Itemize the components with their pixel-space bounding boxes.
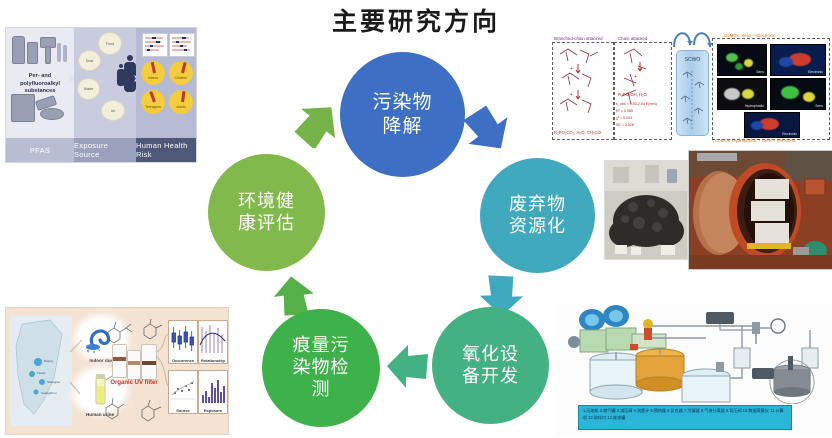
figure-autoclave (688, 150, 832, 270)
figure-carbon-material (604, 160, 688, 260)
cycle-node-oxidation-equipment[interactable]: 氧化设 备开发 (432, 307, 549, 424)
pan-round-icon (40, 108, 64, 120)
pfas-band-label-2: Exposure Source (74, 138, 136, 162)
pie-children-label: Children (175, 76, 188, 80)
svg-text:+: + (570, 66, 573, 72)
bubble-water-label: Water (84, 87, 93, 91)
micrograph-sens-1: Sens (717, 44, 767, 76)
figure-pfas: Per- and polyfluoroalkyl substances ➤ Du… (5, 27, 197, 163)
figure-scwo: Branched-chain attacked Chain attacked +… (548, 26, 832, 144)
pfas-band-label-1: PFAS (6, 138, 74, 162)
scwo-micro-title-bottom: CoMOx: Hydrophobic + Sens + Electronic (715, 138, 796, 143)
pie-adults-label: Adults (176, 105, 185, 109)
device-caption: 1.压缩机 2.储气罐 3.减压阀 4.流量计 5.预热器 6.反应器 7.冷凝… (578, 405, 792, 430)
vial-icon (57, 43, 61, 62)
micrograph-electronic-2: Electronic (744, 112, 800, 138)
vial-icon (63, 45, 67, 62)
micrograph-electronic-1: Electronic (770, 44, 826, 76)
carbon-material-photo (605, 161, 687, 259)
autoclave-photo (689, 151, 832, 269)
pfas-panels: Per- and polyfluoroalkyl substances ➤ Du… (6, 28, 196, 138)
figure-device-schematic: 1.压缩机 2.储气罐 3.减压阀 4.流量计 5.预热器 6.反应器 7.冷凝… (556, 304, 832, 436)
pfas-band-row: PFAS Exposure Source Human Health Risk (6, 138, 196, 162)
micrograph-sens-2: Sens (770, 78, 826, 110)
child-head-icon (119, 64, 123, 68)
scwo-fit-chi2: χ² = 0.033 (616, 116, 632, 120)
bottle-icon (12, 36, 25, 64)
pie-teenagers-label: Teenagers (145, 105, 161, 109)
pfas-substance-label: Per- and polyfluoroalkyl substances (9, 73, 71, 96)
pie-adults: Adults (169, 90, 193, 114)
micrograph-label: Electronic (782, 132, 797, 136)
fabric-icon (11, 94, 35, 122)
device-flow-diagram (556, 304, 832, 404)
figure-uv-filter: BeijingTianjin ShanghaiGuangzhou Indoor … (5, 307, 229, 435)
bubble-food: Food (98, 32, 122, 55)
forest-plot-left (142, 33, 168, 57)
svg-text:+: + (634, 74, 637, 80)
micrograph-label: Sens (756, 70, 764, 74)
scwo-tube-molecules (677, 69, 708, 131)
scwo-panel-chain-title: Chain attacked (618, 36, 647, 41)
bubble-air-label: Air (111, 109, 115, 113)
cycle-node-label: 痕量污 染物检 测 (293, 335, 350, 401)
pie-infants-label: Infants (148, 76, 158, 80)
cycle-node-pollutant-degradation[interactable]: 污染物 降解 (340, 52, 465, 177)
uv-connectors (6, 308, 228, 434)
cycle-node-label: 氧化设 备开发 (462, 344, 519, 388)
scwo-panel-branched-title: Branched-chain attacked (554, 36, 603, 41)
pie-teenagers: Teenagers (141, 90, 165, 114)
scwo-fit-se: SE = 0.026 (616, 123, 634, 127)
micrograph-label: Hydrophobic (745, 104, 764, 108)
pan-handle-icon (45, 46, 51, 64)
scwo-reaction-scheme: + + + (552, 44, 672, 138)
cycle-node-health-assessment[interactable]: 环境健 康评估 (208, 154, 325, 271)
pfas-band-label-3: Human Health Risk (136, 138, 196, 162)
scwo-formula-1: R₂PO₂CO₂, H₂O, CH₃CO⁻ (554, 130, 603, 135)
forest-plot-right (169, 33, 195, 57)
bubble-dust: Dust (78, 50, 101, 71)
pie-infants: Infants (141, 61, 165, 85)
pfas-panel-substances: Per- and polyfluoroalkyl substances ➤ (6, 28, 74, 138)
bubble-food-label: Food (106, 42, 114, 46)
pie-children: Children (169, 61, 193, 85)
micrograph-hydrophobic: Hydrophobic (717, 78, 767, 110)
bubble-air: Air (101, 100, 125, 121)
arrow-left-to-top (292, 100, 342, 148)
bottle-icon (27, 42, 38, 64)
arrow-bottomright-to-bottomleft (383, 344, 433, 388)
scwo-fit-kobs: k_obs = 0.50-2.04 E(rem) (616, 102, 657, 106)
cycle-node-label: 污染物 降解 (372, 91, 432, 137)
svg-text:+: + (570, 92, 573, 98)
arrow-top-to-right (460, 105, 514, 155)
adult-head-icon (127, 55, 133, 61)
bubble-dust-label: Dust (86, 59, 93, 63)
slide-root: 主要研究方向 Per- and polyfluoroalkyl substanc… (0, 0, 832, 438)
scwo-fit-r2: R² = 0.989 (616, 109, 633, 113)
micrograph-label: Electronic (808, 70, 823, 74)
scwo-swirl-arrows-icon (666, 26, 718, 49)
micrograph-label: Sens (815, 104, 823, 108)
scwo-reactor-tube: SCWO (676, 50, 709, 136)
cycle-node-waste-resource[interactable]: 废弃物 资源化 (480, 158, 595, 273)
cycle-node-trace-detection[interactable]: 痕量污 染物检 测 (262, 309, 380, 427)
scwo-reactor-label: SCWO (677, 57, 708, 63)
pfas-panel-exposure: Dust Food Water Air ➤ (74, 28, 136, 138)
cycle-node-label: 废弃物 资源化 (509, 194, 566, 238)
pfas-panel-risk: Infants Children Teenagers Adults (136, 28, 196, 138)
bubble-water: Water (77, 78, 100, 100)
scwo-micro-title-top: CoMOx: Sens + Electronic (724, 33, 776, 38)
cycle-node-label: 环境健 康评估 (238, 191, 295, 235)
scwo-formula-2: R₂PO₂OH, H₂O (618, 92, 647, 97)
